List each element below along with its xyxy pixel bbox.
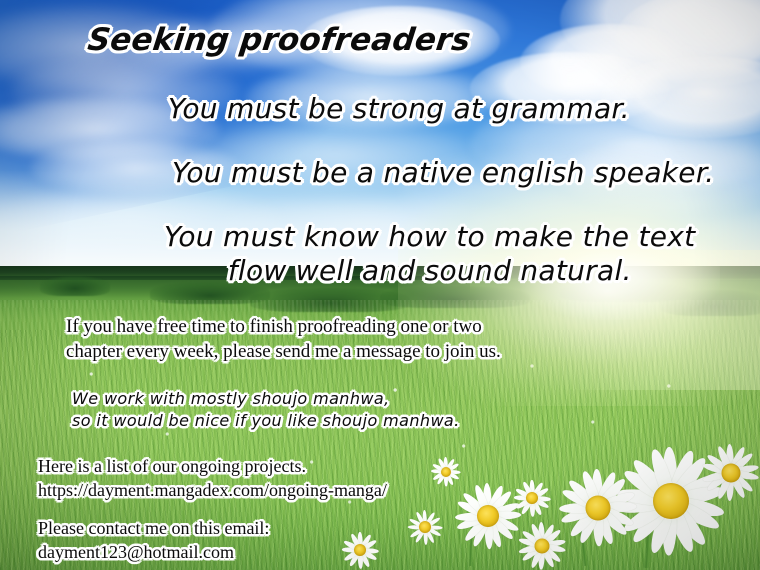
free-time-paragraph: If you have free time to finish proofrea…: [66, 314, 501, 364]
email-paragraph[interactable]: Please contact me on this email: dayment…: [38, 516, 269, 564]
requirement-grammar: You must be strong at grammar.: [168, 92, 630, 125]
tree-copse: [40, 276, 110, 296]
requirement-native-speaker: You must be a native english speaker.: [172, 156, 714, 189]
daisy-flower: [512, 478, 552, 518]
projects-paragraph[interactable]: Here is a list of our ongoing projects. …: [38, 454, 387, 502]
daisy-core: [441, 467, 451, 477]
daisy-flower: [700, 442, 760, 504]
daisy-flower: [430, 456, 462, 488]
daisy-core: [586, 496, 611, 521]
daisy-core: [722, 464, 741, 483]
daisy-core: [535, 539, 550, 554]
shoujo-paragraph: We work with mostly shoujo manhwa, so it…: [72, 388, 460, 432]
daisy-flower: [556, 466, 640, 550]
daisy-core: [526, 492, 538, 504]
page-title: Seeking proofreaders: [86, 22, 473, 58]
poster-image: Seeking proofreaders You must be strong …: [0, 0, 760, 570]
daisy-flower: [340, 530, 380, 570]
daisy-core: [419, 521, 431, 533]
daisy-core: [354, 544, 366, 556]
requirement-text-flow: You must know how to make the text flow …: [164, 220, 695, 288]
daisy-flower: [406, 508, 444, 546]
daisy-flower: [516, 520, 568, 570]
daisy-core: [653, 483, 689, 519]
daisy-core: [477, 505, 499, 527]
